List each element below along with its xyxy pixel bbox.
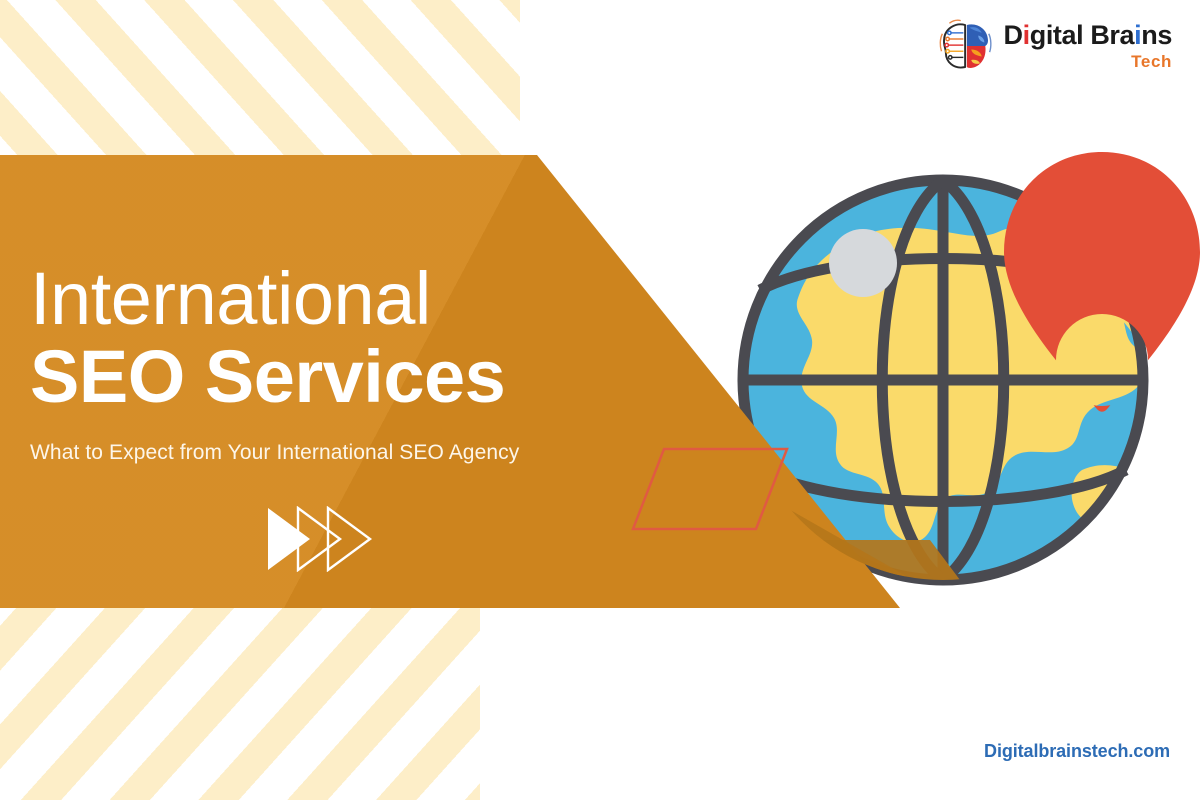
hero-text-block: International SEO Services What to Expec… <box>30 262 670 465</box>
page-subtitle: What to Expect from Your International S… <box>30 441 670 465</box>
page-title-line-1: International <box>30 262 670 336</box>
brain-icon <box>938 18 994 74</box>
website-url[interactable]: Digitalbrainstech.com <box>984 741 1170 762</box>
poster-canvas: International SEO Services What to Expec… <box>0 0 1200 800</box>
triple-chevron-right-icon <box>266 506 376 572</box>
brand-sub-name: Tech <box>1131 53 1172 70</box>
globe-marker-dot <box>829 229 897 297</box>
brand-name: Digital Brains <box>1004 22 1172 49</box>
diagonal-stripes-bottom-left <box>0 608 480 800</box>
page-title-line-2: SEO Services <box>30 336 670 419</box>
brand-logo[interactable]: Digital Brains Tech <box>938 18 1172 74</box>
brand-logo-text: Digital Brains Tech <box>1004 22 1172 70</box>
